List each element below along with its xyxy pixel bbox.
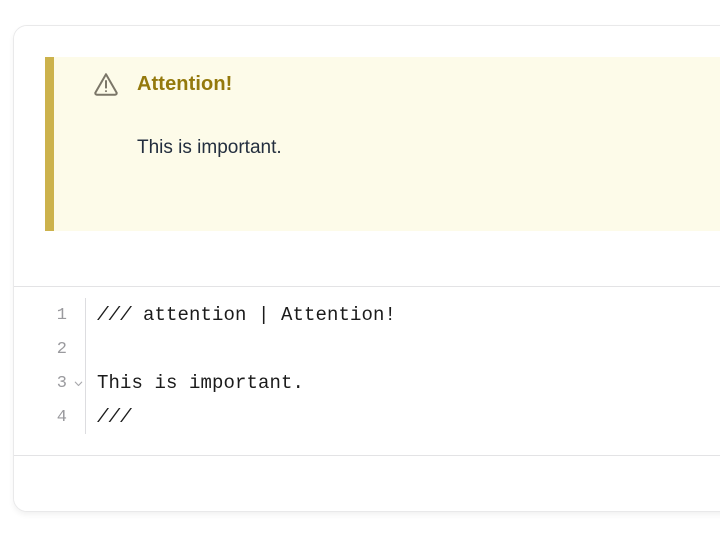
line-number: 3 bbox=[14, 374, 71, 393]
code-line-row[interactable]: 1 /// attention | Attention! bbox=[14, 298, 720, 332]
rendered-preview-pane: Attention! This is important. bbox=[14, 26, 720, 287]
card-footer-strip bbox=[14, 457, 720, 511]
admonition-header: Attention! bbox=[92, 70, 232, 98]
source-editor-pane[interactable]: 1 /// attention | Attention! 2 3 bbox=[14, 288, 720, 456]
line-number: 1 bbox=[14, 306, 71, 325]
warning-triangle-icon bbox=[92, 70, 120, 98]
gutter-divider bbox=[85, 332, 86, 366]
code-token-text: attention | Attention! bbox=[132, 304, 397, 326]
chevron-down-icon[interactable] bbox=[71, 378, 85, 389]
page-root: Attention! This is important. 1 /// atte… bbox=[0, 0, 720, 544]
code-line-content[interactable]: /// attention | Attention! bbox=[86, 304, 720, 326]
code-token-text: This is important. bbox=[97, 372, 304, 394]
admonition-body-text: This is important. bbox=[137, 137, 282, 159]
code-token-slashes: /// bbox=[97, 304, 132, 326]
preview-card: Attention! This is important. 1 /// atte… bbox=[13, 25, 720, 512]
code-line-row[interactable]: 4 /// bbox=[14, 400, 720, 434]
editor-lines-container: 1 /// attention | Attention! 2 3 bbox=[14, 298, 720, 455]
admonition-attention: Attention! This is important. bbox=[45, 57, 720, 231]
line-number: 2 bbox=[14, 340, 71, 359]
code-line-row[interactable]: 3 This is important. bbox=[14, 366, 720, 400]
code-line-content[interactable]: /// bbox=[86, 406, 720, 428]
admonition-title: Attention! bbox=[137, 73, 232, 96]
line-number: 4 bbox=[14, 408, 71, 427]
code-line-row[interactable]: 2 bbox=[14, 332, 720, 366]
code-line-content[interactable]: This is important. bbox=[86, 372, 720, 394]
code-token-slashes: /// bbox=[97, 406, 132, 428]
